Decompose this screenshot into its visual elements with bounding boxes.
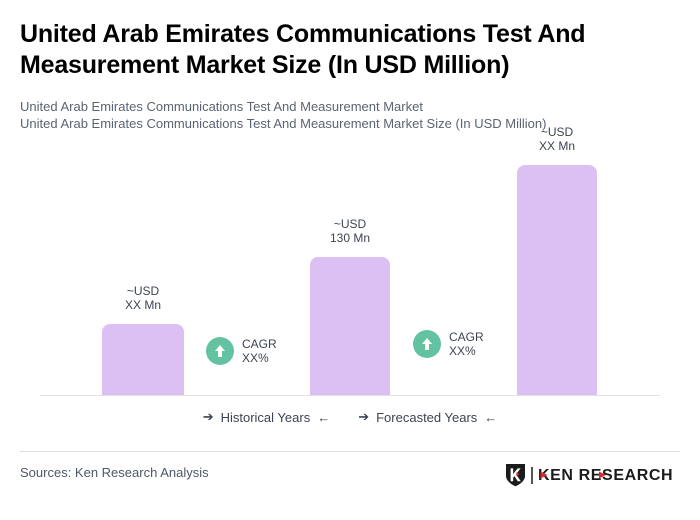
bar-value-label-line2: XX Mn [517,139,597,153]
bar-value-label-line2: 130 Mn [310,231,390,245]
sources-text: Sources: Ken Research Analysis [20,465,209,480]
arrow-up-icon [206,337,234,365]
shield-k-icon [505,463,526,487]
cagr-marker: CAGR XX% [206,337,277,365]
arrow-right-icon: ➔ [358,409,369,425]
bar-value-label: ~USD XX Mn [102,284,184,312]
logo-separator [531,467,533,484]
bar-forecasted[interactable] [517,165,597,395]
cagr-text: CAGR XX% [242,337,277,365]
period-historical-years: ➔ Historical Years ← [203,409,331,425]
cagr-label: CAGR [449,330,484,344]
x-axis-baseline [40,395,660,396]
footer-divider [20,451,680,452]
arrow-left-icon: ← [484,410,497,425]
bar-value-label-line1: ~USD [310,217,390,231]
bar-value-label: ~USD XX Mn [517,125,597,153]
arrow-up-icon [413,330,441,358]
period-label: Forecasted Years [376,410,477,425]
cagr-value: XX% [242,351,277,365]
arrow-right-icon: ➔ [203,409,214,425]
arrow-left-icon: ← [317,410,330,425]
bar-value-label-line1: ~USD [102,284,184,298]
period-legend: ➔ Historical Years ← ➔ Forecasted Years … [0,409,700,425]
chart-page: United Arab Emirates Communications Test… [0,0,700,520]
bar-chart: ~USD XX Mn ~USD 130 Mn ~USD XX Mn CAGR X… [0,0,700,400]
bar-value-label: ~USD 130 Mn [310,217,390,245]
cagr-value: XX% [449,344,484,358]
bar-value-label-line2: XX Mn [102,298,184,312]
bar-base-year[interactable] [310,257,390,395]
cagr-marker: CAGR XX% [413,330,484,358]
logo-wordmark: KEN RESEARCH [538,465,680,485]
svg-text:KEN RESEARCH: KEN RESEARCH [538,467,673,484]
cagr-label: CAGR [242,337,277,351]
cagr-text: CAGR XX% [449,330,484,358]
period-forecasted-years: ➔ Forecasted Years ← [358,409,497,425]
ken-research-logo: KEN RESEARCH [505,463,680,487]
bar-value-label-line1: ~USD [517,125,597,139]
bar-historical[interactable] [102,324,184,395]
period-label: Historical Years [221,410,311,425]
